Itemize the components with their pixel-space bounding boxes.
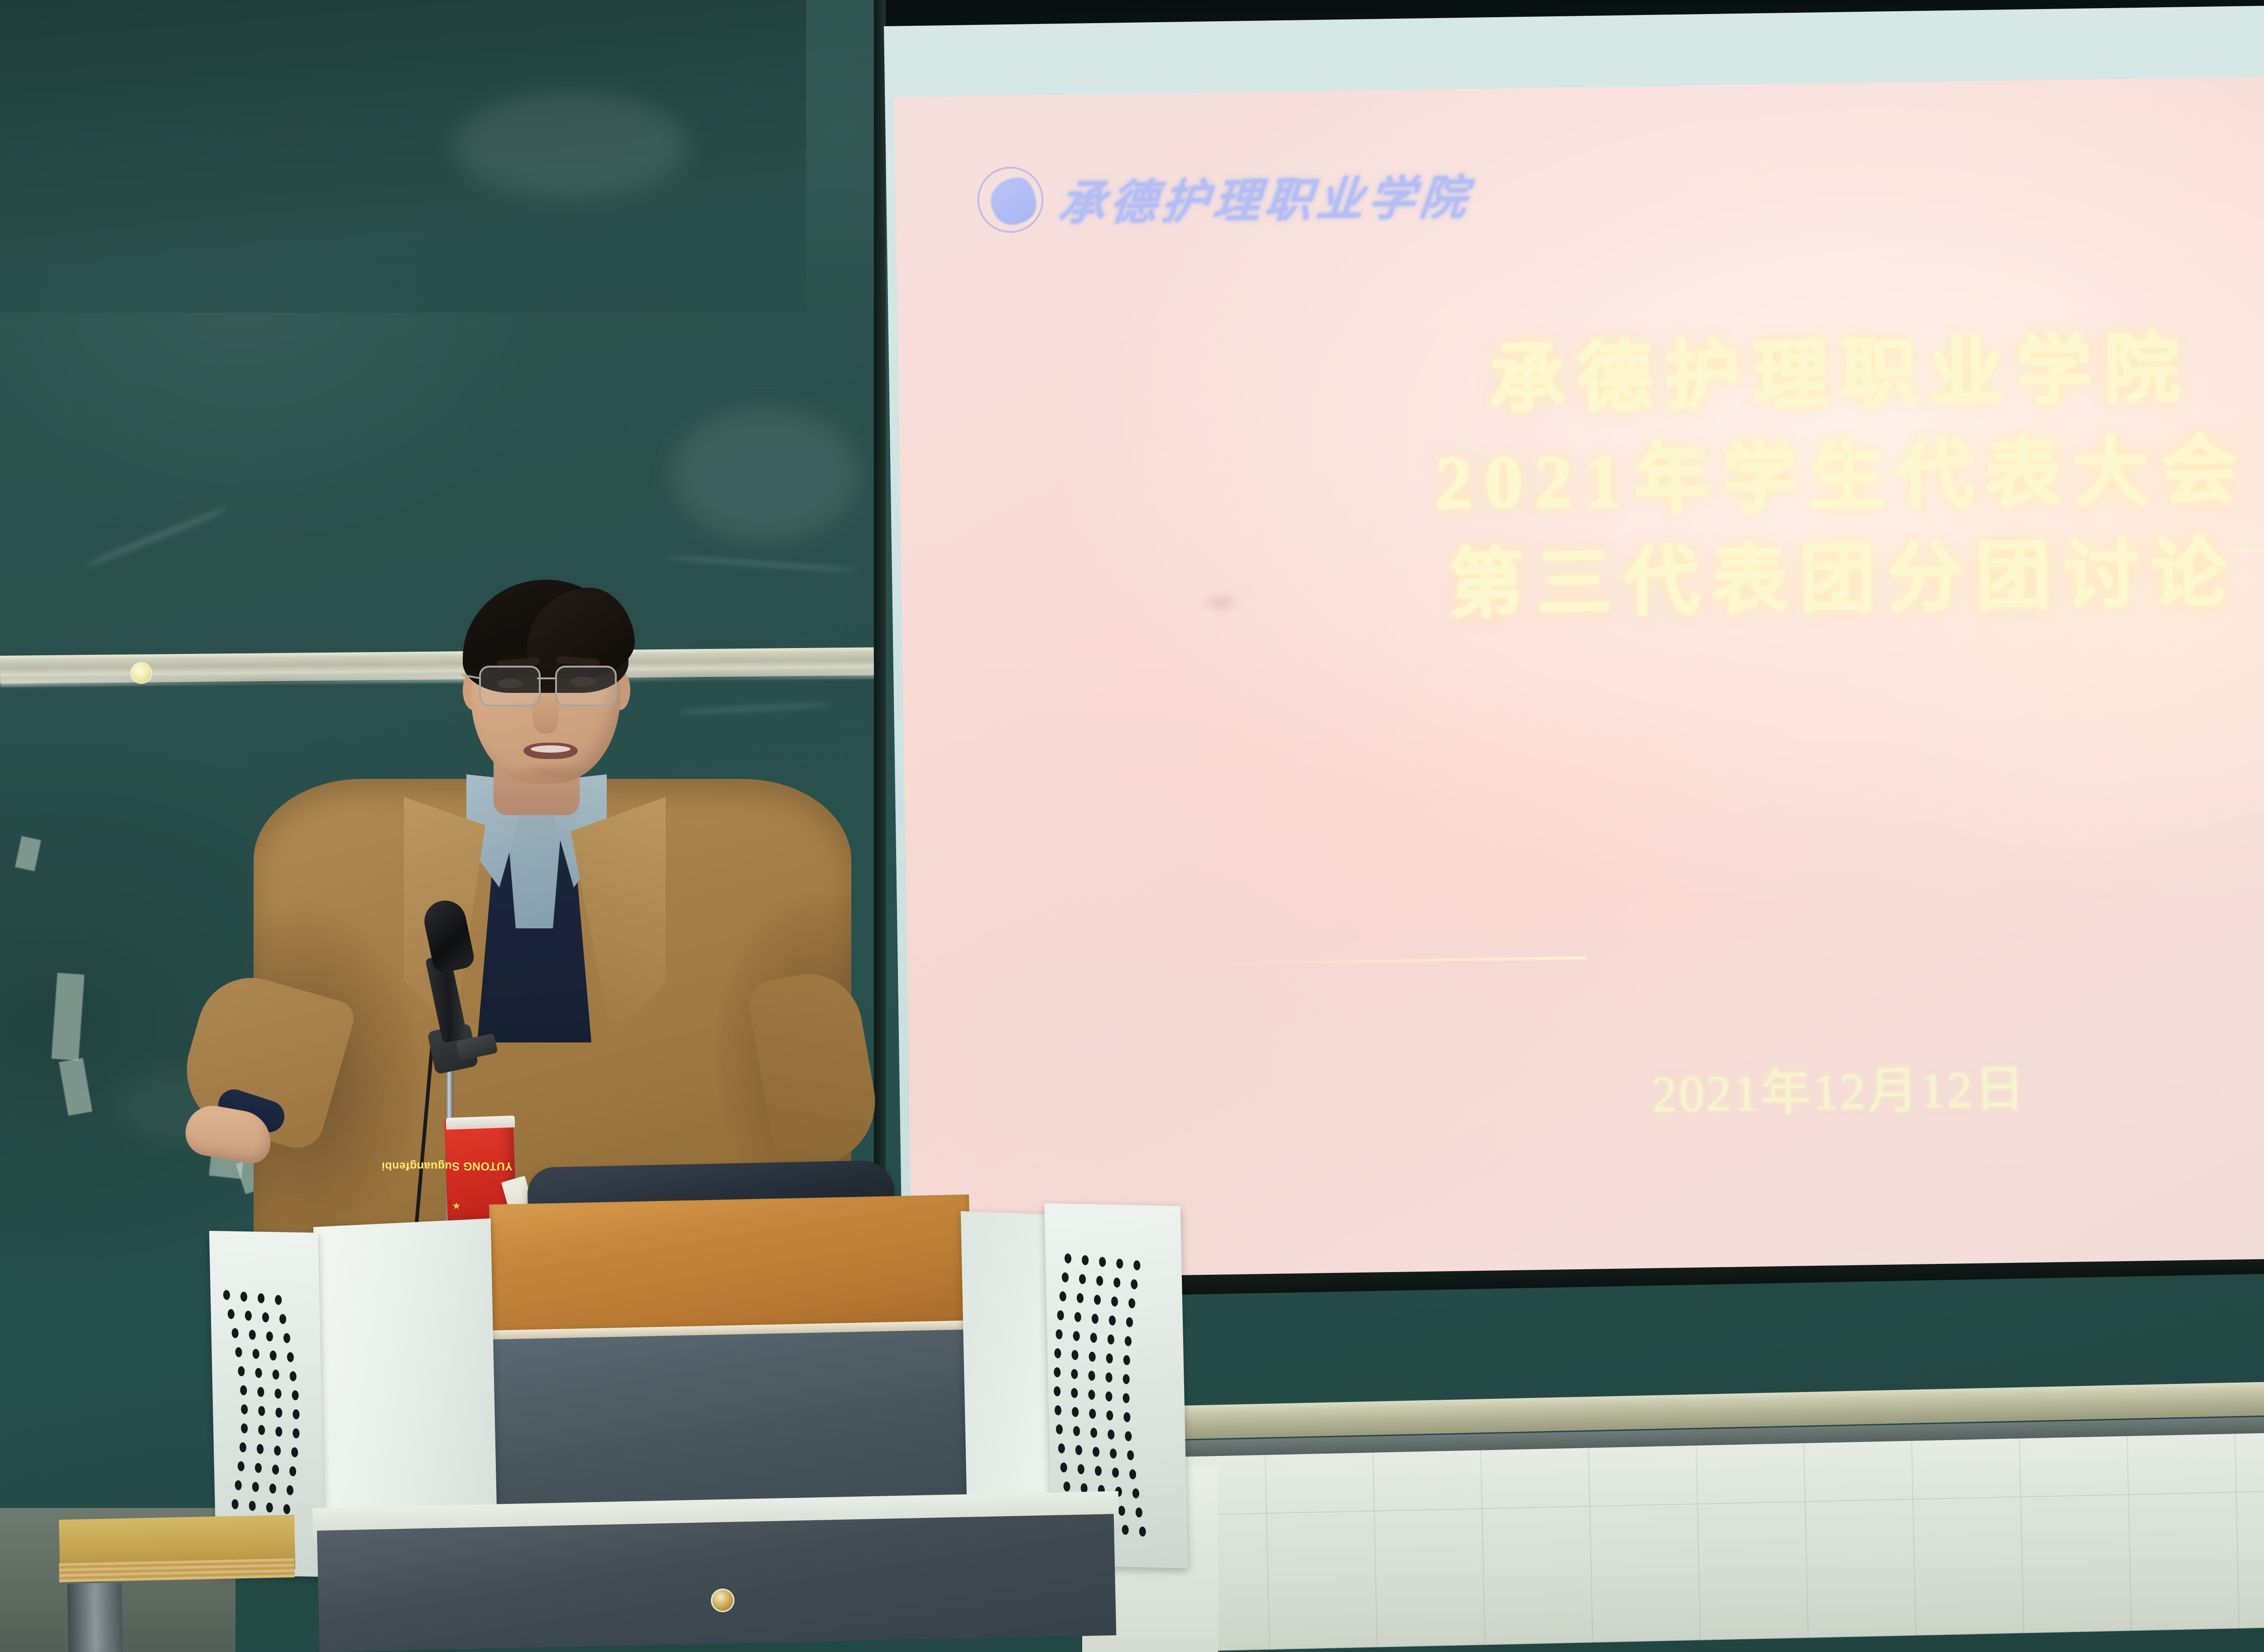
- school-crest-icon: [977, 166, 1044, 233]
- screen-left-edge: [874, 0, 886, 1309]
- speaker-person: [254, 584, 851, 1263]
- chalk-smudge: [670, 408, 860, 543]
- tiled-wall: [1157, 1429, 2264, 1652]
- marker-box-brand-label: YUTONG Suguangfenbi: [449, 1159, 513, 1172]
- slide-title-line-1: 承德护理职业学院: [1242, 328, 2264, 422]
- teacher-desk: [317, 1514, 1116, 1652]
- slide-logo: 承德护理职业学院: [977, 152, 1499, 241]
- nose: [532, 692, 559, 734]
- slide-artifact: [1200, 591, 1242, 615]
- logo-wordmark: 承德护理职业学院: [1056, 158, 1475, 233]
- star-icon: ★: [452, 1201, 462, 1211]
- teeth: [531, 745, 571, 753]
- presentation-slide: 承德护理职业学院 承德护理职业学院 2021年学生代表大会 第三代表团分团讨论 …: [894, 74, 2264, 1279]
- slide-title-line-3: 第三代表团分团讨论: [1245, 533, 2264, 626]
- decorative-line-left: [1188, 957, 1586, 965]
- chalk-smudge: [453, 91, 688, 199]
- podium-wood-panel: [489, 1195, 972, 1336]
- desk-lock-icon[interactable]: [711, 1589, 734, 1612]
- slide-date: 2021年12月12日: [1651, 1044, 2264, 1127]
- desk-rail: [67, 1583, 123, 1652]
- slide-title-line-2: 2021年学生代表大会: [1244, 430, 2264, 524]
- marker-box-lid: [446, 1115, 515, 1129]
- chin-shadow: [507, 762, 593, 783]
- rail-sticker-icon: [130, 662, 152, 684]
- slide-title-block: 承德护理职业学院 2021年学生代表大会 第三代表团分团讨论: [1242, 328, 2264, 627]
- photo-scene: 承德护理职业学院 承德护理职业学院 2021年学生代表大会 第三代表团分团讨论 …: [0, 0, 2264, 1652]
